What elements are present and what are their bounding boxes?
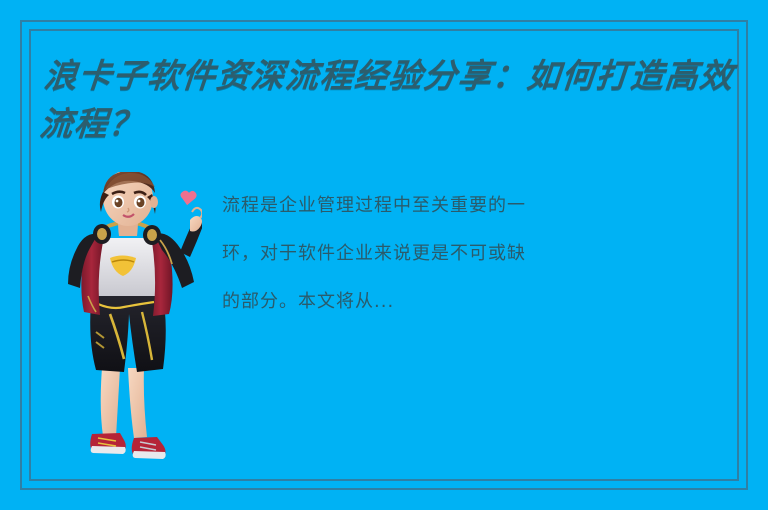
article-cover-card: 浪卡子软件资深流程经验分享：如何打造高效流程？ 流程是企业管理过程中至关重要的一… (0, 0, 768, 510)
avatar-legs (101, 368, 147, 438)
page-title: 浪卡子软件资深流程经验分享：如何打造高效流程？ (38, 52, 736, 148)
avatar-shirt (97, 238, 158, 296)
article-excerpt: 流程是企业管理过程中至关重要的一环，对于软件企业来说更是不可或缺的部分。本文将从… (222, 182, 542, 326)
avatar-hand-heart (180, 191, 202, 257)
avatar-shoes (90, 433, 165, 459)
cartoon-boy-avatar-illustration (62, 172, 202, 477)
